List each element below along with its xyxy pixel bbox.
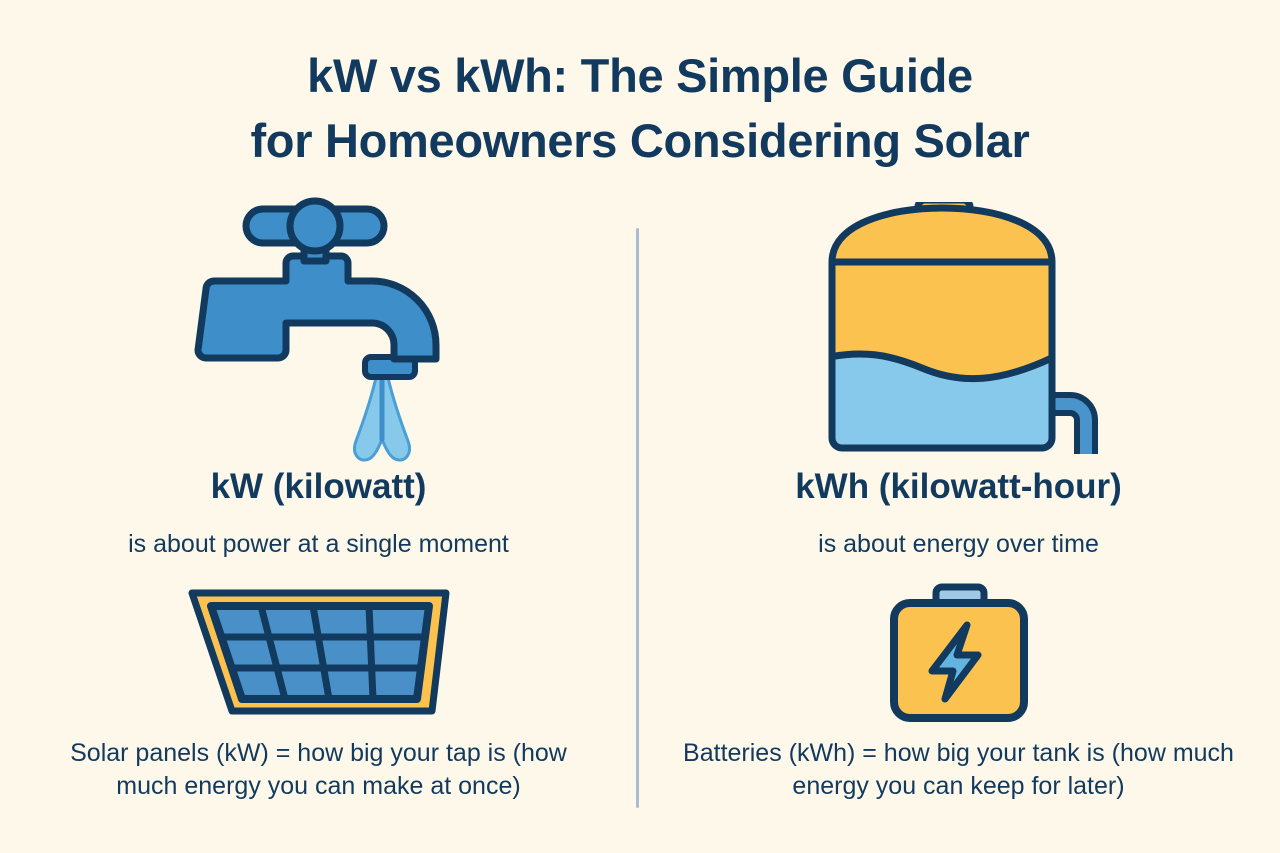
- heading-kw: kW (kilowatt): [211, 468, 427, 507]
- caption-kw: Solar panels (kW) = how big your tap is …: [59, 737, 579, 803]
- faucet-icon: [194, 197, 444, 467]
- water-tank-icon: [814, 202, 1104, 462]
- comparison-columns: kW (kilowatt) is about power at a single…: [0, 196, 1280, 853]
- water-tank-icon-container: [814, 196, 1104, 468]
- subheading-kw: is about power at a single moment: [128, 529, 509, 559]
- battery-icon-container: [874, 569, 1044, 737]
- title-line-1: kW vs kWh: The Simple Guide: [0, 44, 1280, 109]
- caption-kwh: Batteries (kWh) = how big your tank is (…: [679, 737, 1239, 803]
- battery-icon: [874, 583, 1044, 723]
- faucet-icon-container: [194, 196, 444, 468]
- column-kw: kW (kilowatt) is about power at a single…: [0, 196, 637, 853]
- column-kwh: kWh (kilowatt-hour) is about energy over…: [637, 196, 1280, 853]
- subheading-kwh: is about energy over time: [818, 529, 1099, 559]
- solar-panel-icon-container: [184, 569, 454, 737]
- heading-kwh: kWh (kilowatt-hour): [795, 468, 1122, 507]
- page-title: kW vs kWh: The Simple Guide for Homeowne…: [0, 44, 1280, 174]
- title-line-2: for Homeowners Considering Solar: [0, 109, 1280, 174]
- solar-panel-icon: [184, 583, 454, 723]
- infographic-page: kW vs kWh: The Simple Guide for Homeowne…: [0, 0, 1280, 853]
